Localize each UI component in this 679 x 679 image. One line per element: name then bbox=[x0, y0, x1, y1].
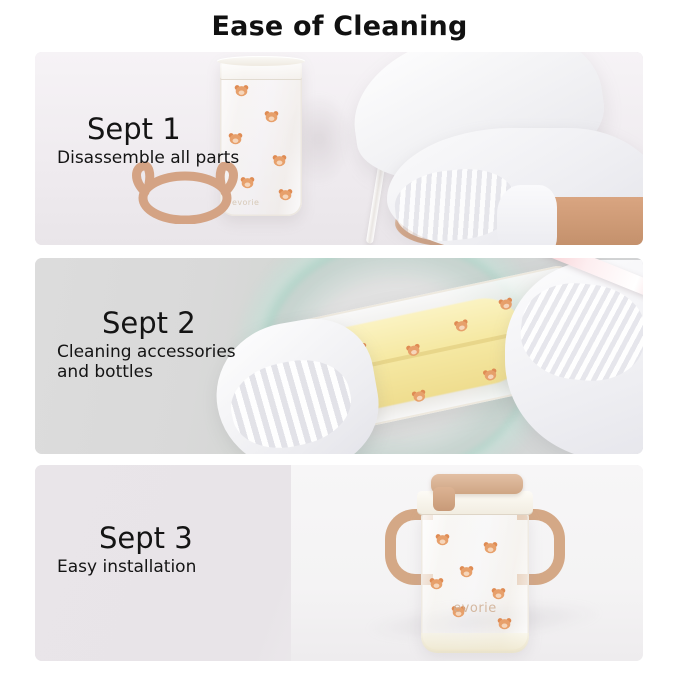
page-title: Ease of Cleaning bbox=[212, 13, 468, 40]
bear-print-icon bbox=[272, 154, 287, 167]
lid-latch-button bbox=[433, 487, 455, 511]
bear-print-icon bbox=[459, 565, 474, 578]
bear-print-icon bbox=[264, 110, 279, 123]
step-panel-1: evorie Sept 1 Di bbox=[35, 52, 643, 245]
step-panel-3: evorie Sept 3 Easy installation bbox=[35, 465, 643, 661]
bear-print-icon bbox=[435, 533, 450, 546]
title-bar: Ease of Cleaning bbox=[0, 0, 679, 52]
glove-cuff bbox=[497, 185, 557, 245]
bottle-being-washed-photo: evorie bbox=[35, 258, 643, 454]
bear-print-icon bbox=[278, 188, 293, 201]
bear-print-icon bbox=[429, 577, 444, 590]
bottle-body bbox=[421, 511, 529, 651]
bear-print-icon bbox=[483, 541, 498, 554]
bottle-rim bbox=[217, 56, 305, 66]
brand-label: evorie bbox=[427, 601, 523, 616]
bottle-handle-ring bbox=[127, 162, 243, 224]
assembled-bottle-photo: evorie bbox=[35, 465, 643, 661]
bear-print-icon bbox=[228, 132, 243, 145]
bottle-base bbox=[421, 633, 529, 653]
bear-print-icon bbox=[410, 388, 427, 404]
bear-print-icon bbox=[497, 617, 512, 630]
bear-print-icon bbox=[491, 587, 506, 600]
infographic-root: Ease of Cleaning evorie bbox=[0, 0, 679, 52]
bear-print-icon bbox=[234, 84, 249, 97]
bottle-neck bbox=[220, 58, 302, 80]
step-panel-2: evorie Sept 2 Cleaning accessories and b… bbox=[35, 258, 643, 454]
disassembled-bottle-parts-photo: evorie bbox=[35, 52, 643, 245]
